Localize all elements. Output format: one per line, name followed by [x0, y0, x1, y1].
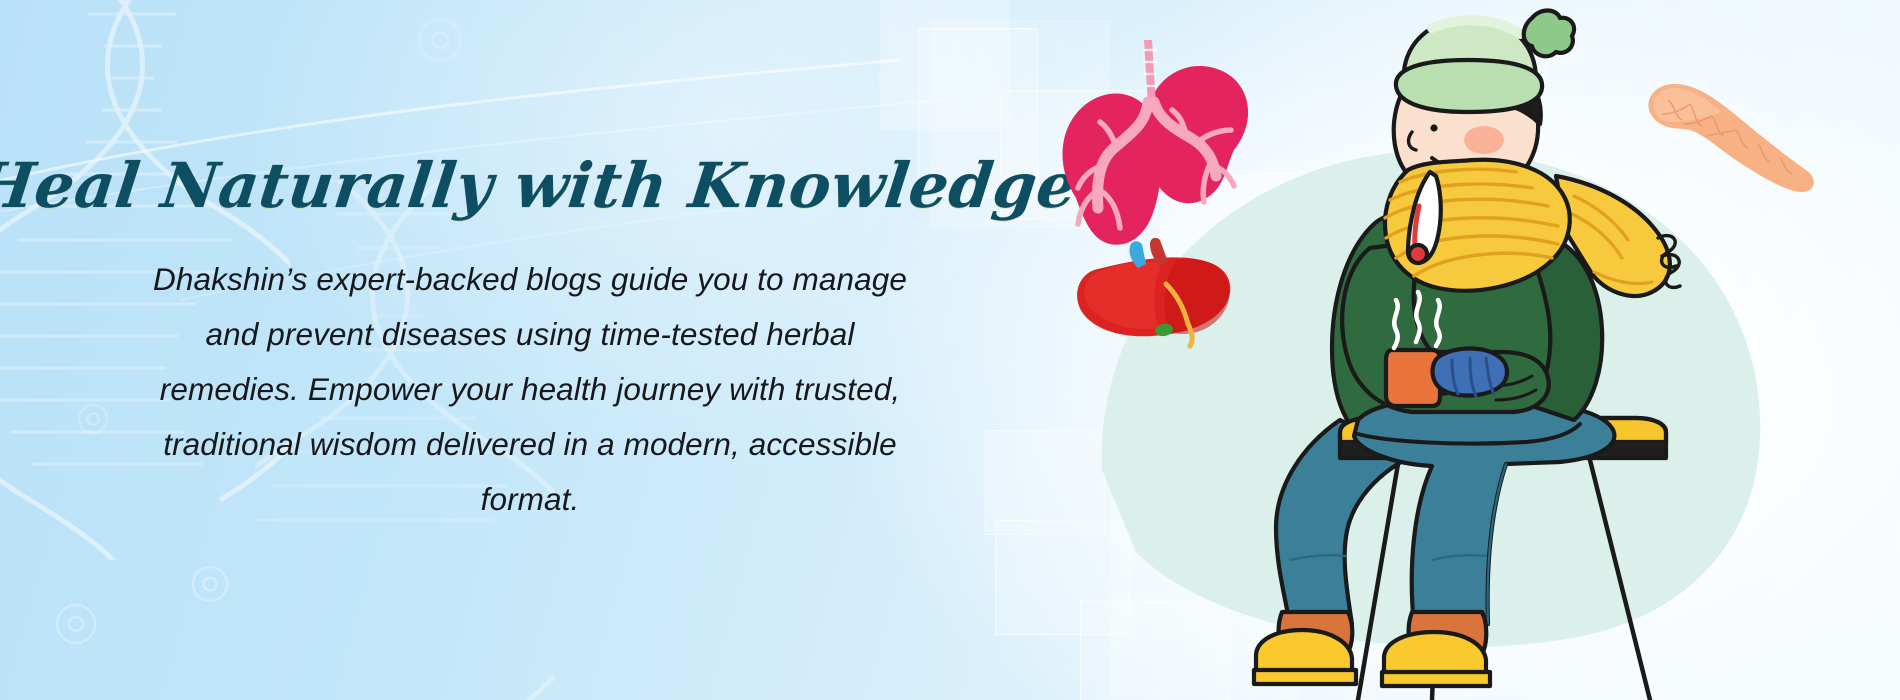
cheek-blush — [1464, 126, 1504, 154]
hero-illustration — [1040, 0, 1900, 700]
hero-description: Dhakshin’s expert-backed blogs guide you… — [150, 252, 910, 527]
slipper-back — [1254, 612, 1356, 684]
winter-hat — [1396, 11, 1574, 113]
glove — [1433, 349, 1508, 397]
lungs-icon — [1063, 40, 1249, 245]
hat-pompom — [1524, 11, 1574, 57]
pancreas-icon — [1648, 84, 1813, 192]
page-title: Heal Naturally with Knowledge — [0, 153, 1081, 218]
hero-banner: Heal Naturally with Knowledge Dhakshin’s… — [0, 0, 1900, 700]
hero-text-block: Heal Naturally with Knowledge Dhakshin’s… — [0, 0, 1040, 700]
